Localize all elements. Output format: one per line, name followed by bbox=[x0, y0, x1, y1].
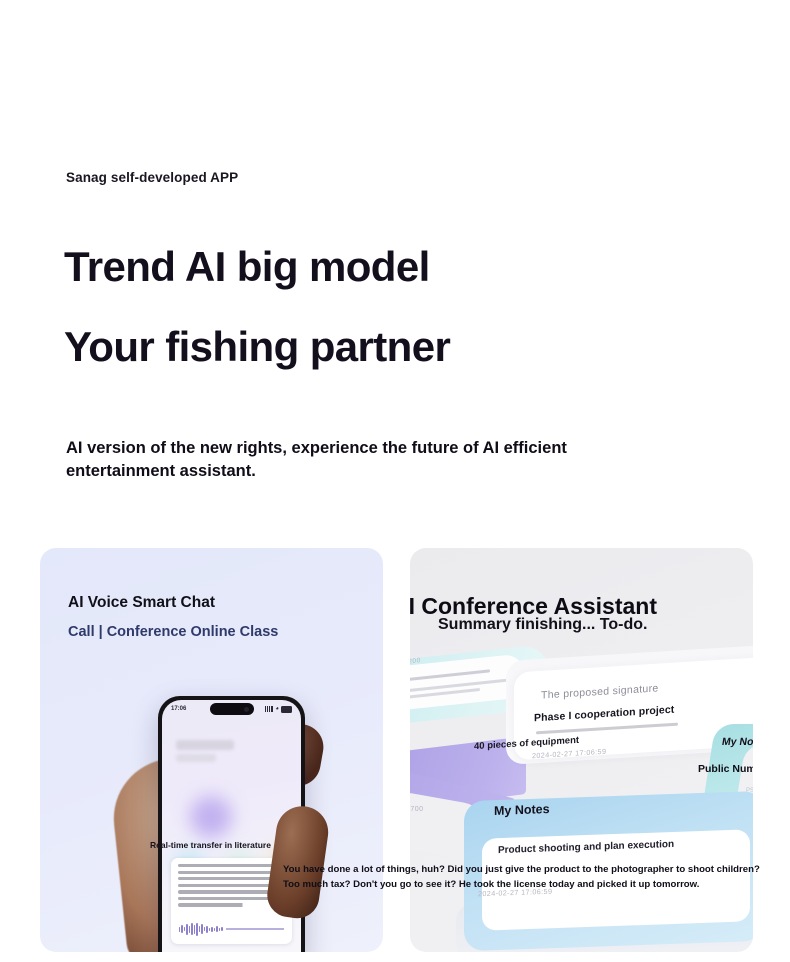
left-card-title: AI Voice Smart Chat bbox=[68, 594, 215, 612]
diagram-side-timestamp: 1700 bbox=[410, 806, 424, 813]
transcript-line bbox=[178, 877, 282, 880]
transcript-line bbox=[178, 897, 272, 900]
transcript-line bbox=[178, 884, 276, 887]
screen-placeholder-line-1 bbox=[176, 740, 234, 750]
blob-purple-icon bbox=[190, 796, 232, 838]
right-card-subtitle: Summary finishing... To-do. bbox=[438, 616, 647, 634]
audio-waveform-icon[interactable] bbox=[179, 922, 284, 936]
transcript-line bbox=[178, 890, 281, 893]
overlay-paragraph: You have done a lot of things, huh? Did … bbox=[283, 863, 768, 893]
diagram-my-notes-tag: My Notes bbox=[721, 736, 753, 748]
waveform-tail bbox=[226, 928, 284, 929]
wifi-icon: ◕ bbox=[275, 706, 279, 712]
left-card-subtitle: Call | Conference Online Class bbox=[68, 624, 278, 640]
screen-placeholder-line-2 bbox=[176, 754, 216, 762]
hero-lede: AI version of the new rights, experience… bbox=[66, 437, 666, 484]
diagram-my-notes-title: My Notes bbox=[494, 802, 550, 818]
transcript-line bbox=[178, 864, 283, 867]
transcript-line bbox=[178, 903, 245, 906]
diagram-public-number-tag: Public Number bbox=[698, 763, 753, 775]
signal-bars-icon bbox=[265, 706, 273, 712]
dynamic-island-icon bbox=[210, 703, 254, 715]
headline-line-2: Your fishing partner bbox=[64, 326, 450, 368]
left-card-caption: Real-time transfer in literature bbox=[150, 840, 271, 850]
status-clock: 17:06 bbox=[171, 706, 186, 712]
transcript-line bbox=[178, 871, 280, 874]
status-indicators: ◕ bbox=[265, 706, 292, 713]
eyebrow-label: Sanag self-developed APP bbox=[66, 170, 238, 185]
headline-line-1: Trend AI big model bbox=[64, 246, 430, 288]
hero-section: Sanag self-developed APP Trend AI big mo… bbox=[0, 0, 790, 540]
battery-icon bbox=[281, 706, 292, 713]
